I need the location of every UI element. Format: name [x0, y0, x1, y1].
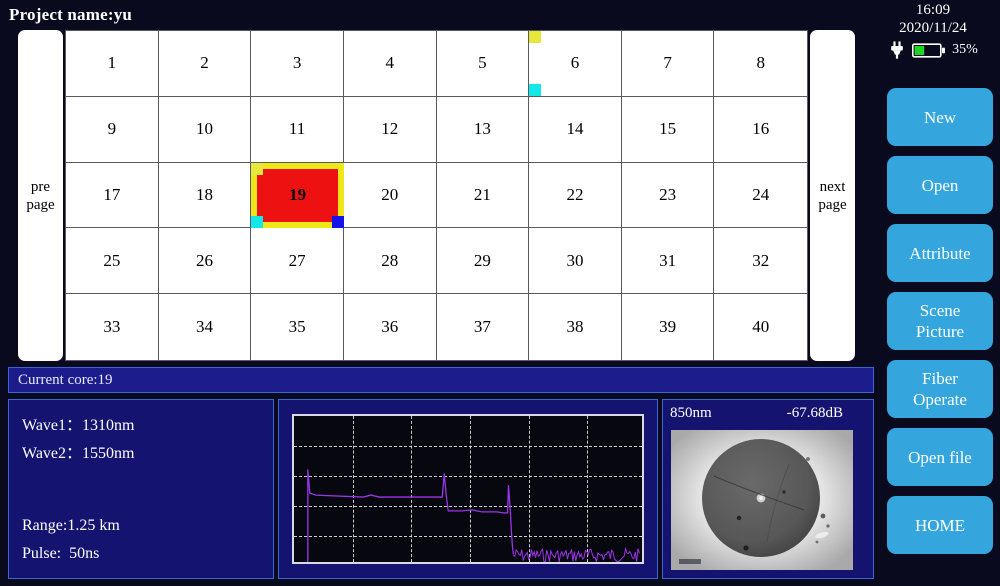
- core-cell-label: 15: [659, 119, 676, 139]
- core-cell-label: 21: [474, 185, 491, 205]
- core-cell-10[interactable]: 10: [159, 97, 252, 163]
- core-cell-15[interactable]: 15: [622, 97, 715, 163]
- core-cell-label: 18: [196, 185, 213, 205]
- marker-cyan-bl-icon: [251, 216, 263, 228]
- core-cell-34[interactable]: 34: [159, 294, 252, 360]
- attribute-button[interactable]: Attribute: [887, 224, 993, 282]
- core-cell-label: 1: [108, 53, 117, 73]
- power-status: 35%: [866, 40, 1000, 60]
- core-cell-label: 3: [293, 53, 302, 73]
- core-cell-label: 13: [474, 119, 491, 139]
- status-cluster: 16:09 2020/11/24 35%: [866, 2, 1000, 60]
- core-cell-label: 8: [756, 53, 765, 73]
- core-cell-29[interactable]: 29: [437, 228, 530, 294]
- core-cell-7[interactable]: 7: [622, 31, 715, 97]
- marker-yellow-tl-icon: [529, 31, 541, 43]
- core-cell-label: 11: [289, 119, 305, 139]
- core-cell-24[interactable]: 24: [714, 163, 807, 229]
- core-cell-label: 39: [659, 317, 676, 337]
- core-cell-31[interactable]: 31: [622, 228, 715, 294]
- fiber-operate-button[interactable]: Fiber Operate: [887, 360, 993, 418]
- core-cell-3[interactable]: 3: [251, 31, 344, 97]
- core-cell-label: 40: [752, 317, 769, 337]
- core-cell-35[interactable]: 35: [251, 294, 344, 360]
- core-cell-label: 14: [566, 119, 583, 139]
- core-cell-14[interactable]: 14: [529, 97, 622, 163]
- core-cell-label: 29: [474, 251, 491, 271]
- core-cell-26[interactable]: 26: [159, 228, 252, 294]
- core-cell-label: 33: [103, 317, 120, 337]
- scope-header: 850nm -67.68dB: [663, 400, 873, 426]
- action-button-rail: NewOpenAttributeScene PictureFiber Opera…: [887, 88, 993, 554]
- pre-page-label: pre page: [18, 178, 63, 214]
- core-cell-37[interactable]: 37: [437, 294, 530, 360]
- core-cell-22[interactable]: 22: [529, 163, 622, 229]
- core-cell-27[interactable]: 27: [251, 228, 344, 294]
- core-cell-label: 36: [381, 317, 398, 337]
- core-cell-label: 28: [381, 251, 398, 271]
- core-cell-5[interactable]: 5: [437, 31, 530, 97]
- core-cell-40[interactable]: 40: [714, 294, 807, 360]
- parameters-panel: Wave1：1310nm Wave2：1550nm Range:1.25 km …: [8, 399, 274, 579]
- core-cell-label: 30: [566, 251, 583, 271]
- fiber-endface-panel[interactable]: 850nm -67.68dB: [662, 399, 874, 579]
- core-cell-12[interactable]: 12: [344, 97, 437, 163]
- core-cell-13[interactable]: 13: [437, 97, 530, 163]
- core-cell-label: 20: [381, 185, 398, 205]
- next-page-button[interactable]: next page: [810, 30, 855, 361]
- open-file-button[interactable]: Open file: [887, 428, 993, 486]
- core-cell-label: 24: [752, 185, 769, 205]
- wave2-value: Wave2：1550nm: [22, 440, 273, 468]
- core-cell-label: 35: [289, 317, 306, 337]
- scope-loss-value: -67.68dB: [787, 405, 843, 422]
- core-cell-25[interactable]: 25: [66, 228, 159, 294]
- core-cell-17[interactable]: 17: [66, 163, 159, 229]
- power-plug-icon: [888, 41, 906, 59]
- core-cell-6[interactable]: 6: [529, 31, 622, 97]
- clock: 16:09: [866, 2, 1000, 19]
- current-core-status: Current core:19: [8, 367, 874, 393]
- battery-icon: [912, 43, 946, 58]
- pre-page-button[interactable]: pre page: [18, 30, 63, 361]
- core-cell-18[interactable]: 18: [159, 163, 252, 229]
- core-cell-label: 26: [196, 251, 213, 271]
- home-button[interactable]: HOME: [887, 496, 993, 554]
- marker-cyan-bl-icon: [529, 84, 541, 96]
- new-button[interactable]: New: [887, 88, 993, 146]
- core-cell-label: 31: [659, 251, 676, 271]
- core-cell-8[interactable]: 8: [714, 31, 807, 97]
- date: 2020/11/24: [866, 19, 1000, 38]
- core-cell-39[interactable]: 39: [622, 294, 715, 360]
- marker-blue-br-icon: [332, 216, 344, 228]
- core-cell-label: 32: [752, 251, 769, 271]
- core-cell-33[interactable]: 33: [66, 294, 159, 360]
- otdr-trace-line: [294, 416, 642, 564]
- core-grid-table: 1234567891011121314151617181920212223242…: [65, 30, 808, 361]
- core-cell-9[interactable]: 9: [66, 97, 159, 163]
- core-cell-label: 7: [663, 53, 672, 73]
- otdr-trace-panel[interactable]: [278, 399, 658, 579]
- core-cell-23[interactable]: 23: [622, 163, 715, 229]
- fiber-endface-image[interactable]: [671, 430, 853, 570]
- core-cell-label: 10: [196, 119, 213, 139]
- core-cell-19[interactable]: 19: [251, 163, 344, 229]
- spacer: [22, 468, 273, 512]
- core-cell-38[interactable]: 38: [529, 294, 622, 360]
- core-cell-label: 4: [385, 53, 394, 73]
- marker-yellow-tl-icon: [251, 163, 263, 175]
- core-cell-36[interactable]: 36: [344, 294, 437, 360]
- page-title: Project name:yu: [9, 5, 132, 25]
- otdr-trace-chart[interactable]: [292, 414, 644, 564]
- core-cell-11[interactable]: 11: [251, 97, 344, 163]
- core-cell-label: 12: [381, 119, 398, 139]
- core-cell-21[interactable]: 21: [437, 163, 530, 229]
- core-cell-30[interactable]: 30: [529, 228, 622, 294]
- scene-picture-button[interactable]: Scene Picture: [887, 292, 993, 350]
- core-cell-label: 6: [571, 53, 580, 73]
- core-cell-label: 37: [474, 317, 491, 337]
- core-cell-label: 38: [566, 317, 583, 337]
- battery-percent-label: 35%: [952, 42, 978, 58]
- core-cell-label: 9: [108, 119, 117, 139]
- range-value: Range:1.25 km: [22, 512, 273, 540]
- core-cell-label: 27: [289, 251, 306, 271]
- core-cell-1[interactable]: 1: [66, 31, 159, 97]
- core-cell-label: 23: [659, 185, 676, 205]
- core-cell-label: 17: [103, 185, 120, 205]
- wave1-value: Wave1：1310nm: [22, 412, 273, 440]
- core-cell-32[interactable]: 32: [714, 228, 807, 294]
- next-page-label: next page: [810, 178, 855, 214]
- core-cell-16[interactable]: 16: [714, 97, 807, 163]
- core-cell-label: 5: [478, 53, 487, 73]
- core-cell-2[interactable]: 2: [159, 31, 252, 97]
- core-grid-area: pre page 1234567891011121314151617181920…: [18, 30, 855, 361]
- open-button[interactable]: Open: [887, 156, 993, 214]
- core-cell-label: 2: [200, 53, 209, 73]
- core-cell-label: 19: [289, 185, 306, 205]
- core-cell-28[interactable]: 28: [344, 228, 437, 294]
- core-cell-label: 34: [196, 317, 213, 337]
- core-cell-4[interactable]: 4: [344, 31, 437, 97]
- core-cell-label: 16: [752, 119, 769, 139]
- scope-wavelength-label: 850nm: [670, 405, 712, 422]
- core-cell-label: 25: [103, 251, 120, 271]
- core-cell-label: 22: [566, 185, 583, 205]
- pulse-value: Pulse: 50ns: [22, 540, 273, 568]
- core-cell-20[interactable]: 20: [344, 163, 437, 229]
